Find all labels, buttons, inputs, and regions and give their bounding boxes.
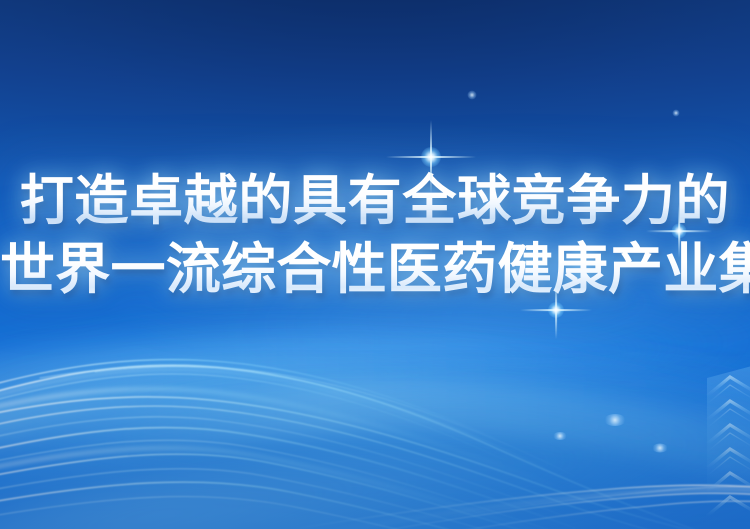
banner-root: 打造卓越的具有全球竞争力的 世界一流综合性医药健康产业集团 bbox=[0, 0, 750, 529]
chevron-stack bbox=[0, 0, 750, 529]
